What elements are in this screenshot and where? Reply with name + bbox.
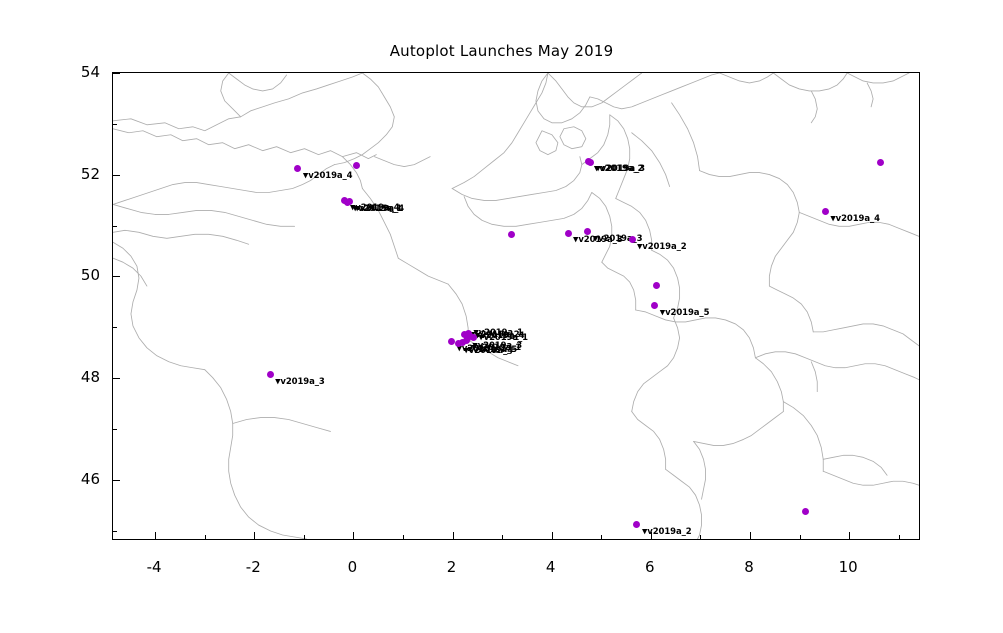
x-tick-label: 2 bbox=[447, 558, 457, 576]
x-tick-label: -4 bbox=[147, 558, 162, 576]
x-tick-major bbox=[849, 532, 850, 539]
point-label-text: v2019a_5 bbox=[473, 345, 517, 355]
point-label: ▼v2019a_4 bbox=[354, 204, 404, 214]
point-label-text: v2019a_4 bbox=[836, 214, 880, 224]
x-tick-label: 4 bbox=[546, 558, 556, 576]
y-tick-minor bbox=[113, 327, 117, 328]
y-tick-major bbox=[113, 378, 120, 379]
page-title: Autoplot Launches May 2019 bbox=[0, 42, 1003, 60]
x-tick-minor bbox=[502, 535, 503, 539]
point-label: ▼v2019a_4 bbox=[303, 171, 353, 181]
x-tick-major bbox=[353, 532, 354, 539]
y-tick-minor bbox=[113, 226, 117, 227]
x-tick-major bbox=[651, 532, 652, 539]
y-tick-major bbox=[113, 175, 120, 176]
x-tick-minor bbox=[601, 535, 602, 539]
scatter-points-layer: ▼v2019a_4▼v2019a_4▼v2019a_1▼v2019a_4▼v20… bbox=[113, 73, 919, 539]
y-tick-minor bbox=[113, 429, 117, 430]
y-tick-minor bbox=[113, 531, 117, 532]
point-label: ▼v2019a_3 bbox=[595, 164, 645, 174]
y-tick-label: 52 bbox=[56, 165, 100, 183]
x-tick-minor bbox=[899, 535, 900, 539]
y-tick-label: 50 bbox=[56, 266, 100, 284]
scatter-marker bbox=[448, 338, 455, 345]
x-tick-label: -2 bbox=[246, 558, 261, 576]
x-tick-major bbox=[750, 532, 751, 539]
y-tick-major bbox=[113, 276, 120, 277]
scatter-marker bbox=[294, 165, 301, 172]
point-label-text: v2019a_2 bbox=[642, 242, 686, 252]
scatter-marker bbox=[653, 282, 660, 289]
point-label: ▼v2019a_4 bbox=[830, 214, 880, 224]
point-label: ▼v2019a_2 bbox=[637, 242, 687, 252]
point-label: ▼v2019a_1 bbox=[478, 333, 528, 343]
x-tick-minor bbox=[700, 535, 701, 539]
point-label-text: v2019a_3 bbox=[280, 377, 324, 387]
point-label-text: v2019a_4 bbox=[360, 204, 404, 214]
scatter-marker bbox=[629, 236, 636, 243]
y-tick-label: 46 bbox=[56, 470, 100, 488]
x-tick-minor bbox=[800, 535, 801, 539]
x-tick-label: 6 bbox=[645, 558, 655, 576]
y-tick-minor bbox=[113, 124, 117, 125]
point-label-text: v2019a_3 bbox=[598, 234, 642, 244]
x-tick-label: 8 bbox=[744, 558, 754, 576]
point-label-text: v2019a_3 bbox=[601, 164, 645, 174]
plot-area: ▼v2019a_4▼v2019a_4▼v2019a_1▼v2019a_4▼v20… bbox=[112, 72, 920, 540]
scatter-marker bbox=[565, 230, 572, 237]
scatter-marker bbox=[470, 334, 477, 341]
figure-canvas: Autoplot Launches May 2019 bbox=[0, 0, 1003, 633]
x-tick-minor bbox=[205, 535, 206, 539]
point-label-text: v2019a_1 bbox=[484, 333, 528, 343]
y-tick-label: 48 bbox=[56, 368, 100, 386]
x-tick-minor bbox=[403, 535, 404, 539]
point-label: ▼v2019a_5 bbox=[467, 345, 517, 355]
scatter-marker bbox=[267, 371, 274, 378]
scatter-marker bbox=[353, 162, 360, 169]
y-tick-major bbox=[113, 73, 120, 74]
point-label: ▼v2019a_2 bbox=[642, 527, 692, 537]
y-tick-major bbox=[113, 480, 120, 481]
y-tick-label: 54 bbox=[56, 63, 100, 81]
x-tick-minor bbox=[304, 535, 305, 539]
x-tick-major bbox=[453, 532, 454, 539]
x-tick-major bbox=[155, 532, 156, 539]
x-tick-label: 10 bbox=[839, 558, 858, 576]
point-label: ▼v2019a_3 bbox=[275, 377, 325, 387]
scatter-marker bbox=[508, 231, 515, 238]
scatter-marker bbox=[584, 228, 591, 235]
x-tick-major bbox=[254, 532, 255, 539]
scatter-marker bbox=[633, 521, 640, 528]
scatter-marker bbox=[877, 159, 884, 166]
point-label-text: v2019a_5 bbox=[665, 308, 709, 318]
point-label-text: v2019a_4 bbox=[308, 171, 352, 181]
scatter-marker bbox=[822, 208, 829, 215]
point-label-text: v2019a_2 bbox=[647, 527, 691, 537]
scatter-marker bbox=[587, 159, 594, 166]
x-tick-label: 0 bbox=[348, 558, 358, 576]
scatter-marker bbox=[802, 508, 809, 515]
point-label: ▼v2019a_5 bbox=[660, 308, 710, 318]
scatter-marker bbox=[459, 339, 466, 346]
x-tick-major bbox=[552, 532, 553, 539]
scatter-marker bbox=[651, 302, 658, 309]
